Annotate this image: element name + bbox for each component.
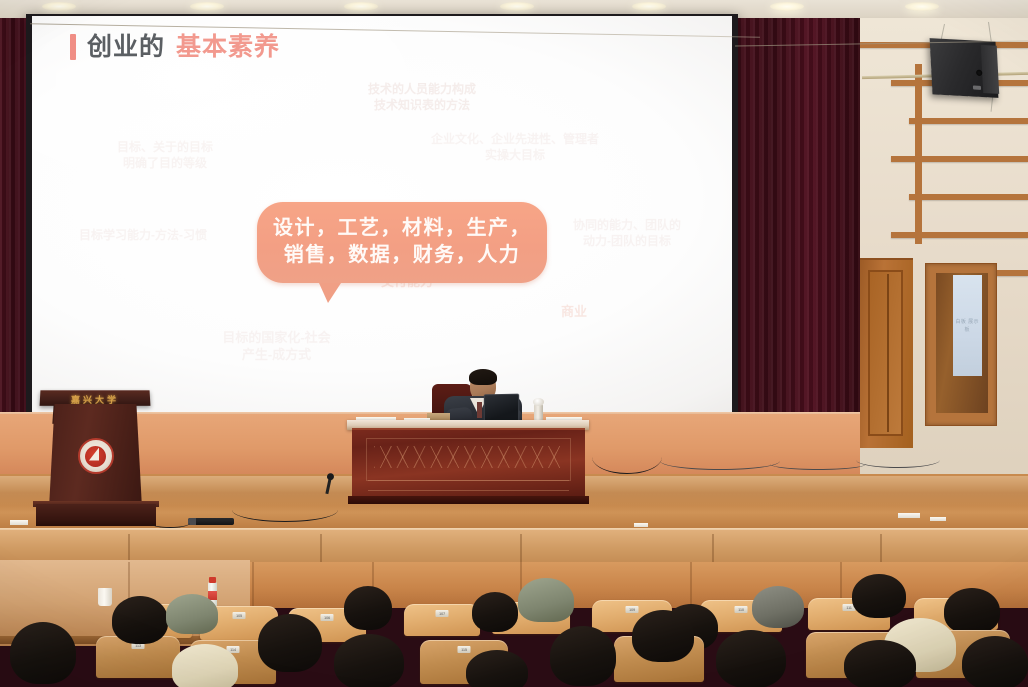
audience-head — [472, 592, 518, 632]
floor-debris — [930, 517, 946, 521]
ceiling-light — [344, 2, 378, 11]
callout-tail — [319, 283, 341, 303]
door-panel — [868, 270, 903, 436]
presenter-tie — [477, 402, 482, 418]
floor-cable — [660, 452, 780, 470]
slide-title-dark: 创业的 — [87, 35, 165, 60]
audience-head — [550, 626, 616, 686]
slide-label-top-center: 技术的人员能力构成 技术知识表的方法 — [332, 82, 512, 113]
table-zigzag-ornament — [374, 446, 563, 468]
slide-label-right-small: 商业 — [544, 304, 604, 321]
floor-debris — [634, 523, 648, 527]
ceiling-light — [42, 2, 76, 11]
table-rule — [368, 480, 569, 481]
slide-label-bottom-center: 目标的国家化-社会 产生-成方式 — [184, 330, 369, 364]
ceiling-light — [190, 2, 224, 11]
auditorium-scene: 白板 展示板 创业的 基本素养 技术的人员能力构成 技术知识表的方法 目标、关于… — [0, 0, 1028, 687]
floor-debris — [898, 513, 920, 518]
seat-number-plate: 110 — [735, 606, 748, 613]
speaker-table-base — [348, 496, 589, 504]
slide-label-mid-left: 目标学习能力-方法-习惯 — [60, 228, 226, 244]
audience-hat — [518, 578, 574, 622]
podium-base — [36, 504, 156, 526]
side-door[interactable] — [857, 258, 913, 448]
seat-number-plate: 107 — [436, 610, 449, 617]
seat-number-plate: 115 — [458, 646, 471, 653]
slide-callout-text: 设计，工艺，材料，生产， 销售，数据，财务，人力 — [267, 215, 537, 269]
floor-debris — [10, 520, 28, 525]
wall-slat — [909, 194, 1028, 200]
podium-name-plate: 嘉兴大学 — [40, 393, 151, 406]
floor-cable — [770, 458, 866, 470]
speaker-grille — [981, 45, 999, 94]
slide-label-mid-right: 协同的能力、团队的 动力-团队的目标 — [552, 218, 702, 249]
audience-head — [944, 588, 1000, 634]
audience-seat: 107 — [404, 604, 480, 636]
audience-head — [112, 596, 168, 644]
speaker-logo — [973, 85, 981, 89]
wall-window: 白板 展示板 — [925, 263, 997, 426]
audience-head — [344, 586, 392, 630]
door-seam — [887, 274, 889, 432]
audience-hat — [166, 594, 218, 634]
emblem-inner — [85, 446, 106, 467]
projection-screen: 创业的 基本素养 技术的人员能力构成 技术知识表的方法 目标、关于的目标 明确了… — [32, 16, 732, 414]
audience-head — [632, 610, 694, 662]
audience-head — [852, 574, 906, 618]
wall-slat-vertical — [915, 64, 922, 244]
microphone-head — [533, 398, 544, 406]
speaker-table-front — [352, 428, 585, 500]
podium-body — [49, 404, 142, 508]
seat-number-plate: 105 — [233, 612, 246, 619]
audience-head — [716, 630, 786, 687]
wall-seam — [690, 562, 692, 606]
slide-label-upper-left: 目标、关于的目标 明确了目的等级 — [90, 140, 240, 171]
ceiling-speaker — [930, 38, 999, 98]
wall-slat — [891, 156, 1028, 162]
table-rule — [368, 490, 569, 491]
university-emblem — [78, 438, 114, 474]
audience-head — [258, 614, 322, 672]
ceiling-light — [905, 2, 939, 11]
window-recess: 白板 展示板 — [936, 273, 988, 413]
podium-top: 嘉兴大学 — [40, 390, 151, 406]
audience-head — [10, 622, 76, 684]
slide-label-upper-right: 企业文化、企业先进性、管理者 实操大目标 — [420, 132, 610, 163]
ceiling-light — [770, 2, 804, 11]
window-notice-text: 白板 展示板 — [954, 319, 980, 334]
wall-slat — [909, 118, 1028, 124]
slide-callout-bubble: 设计，工艺，材料，生产， 销售，数据，财务，人力 — [257, 202, 547, 283]
wall-seam — [252, 562, 254, 606]
presenter-hair — [469, 369, 497, 385]
title-accent-bar — [70, 34, 76, 60]
floor-cable — [856, 452, 940, 468]
audience-head — [844, 640, 916, 687]
seat-number-plate: 109 — [626, 606, 639, 613]
disposable-cup — [98, 588, 112, 606]
speaker-port — [976, 70, 982, 76]
audience-head — [962, 636, 1028, 687]
audience-hat — [172, 644, 238, 687]
audience-head — [334, 634, 404, 687]
ceiling-light — [632, 2, 666, 11]
slide-title-highlight: 基本素养 — [176, 35, 280, 60]
emblem-sail-icon — [89, 448, 99, 461]
floor-cable — [232, 498, 338, 522]
floor-cable — [592, 440, 662, 474]
wall-slat — [891, 232, 1028, 238]
seat-number-plate: 106 — [321, 614, 334, 621]
floor-cable — [150, 518, 190, 528]
bottle-cap — [209, 577, 216, 583]
window-notice-board: 白板 展示板 — [953, 275, 982, 376]
audience-head — [752, 586, 804, 628]
power-strip — [188, 518, 234, 525]
ceiling-light — [500, 2, 534, 11]
laptop-screen[interactable] — [484, 394, 519, 423]
slide-title: 创业的 基本素养 — [70, 34, 280, 60]
audience-head — [466, 650, 528, 687]
